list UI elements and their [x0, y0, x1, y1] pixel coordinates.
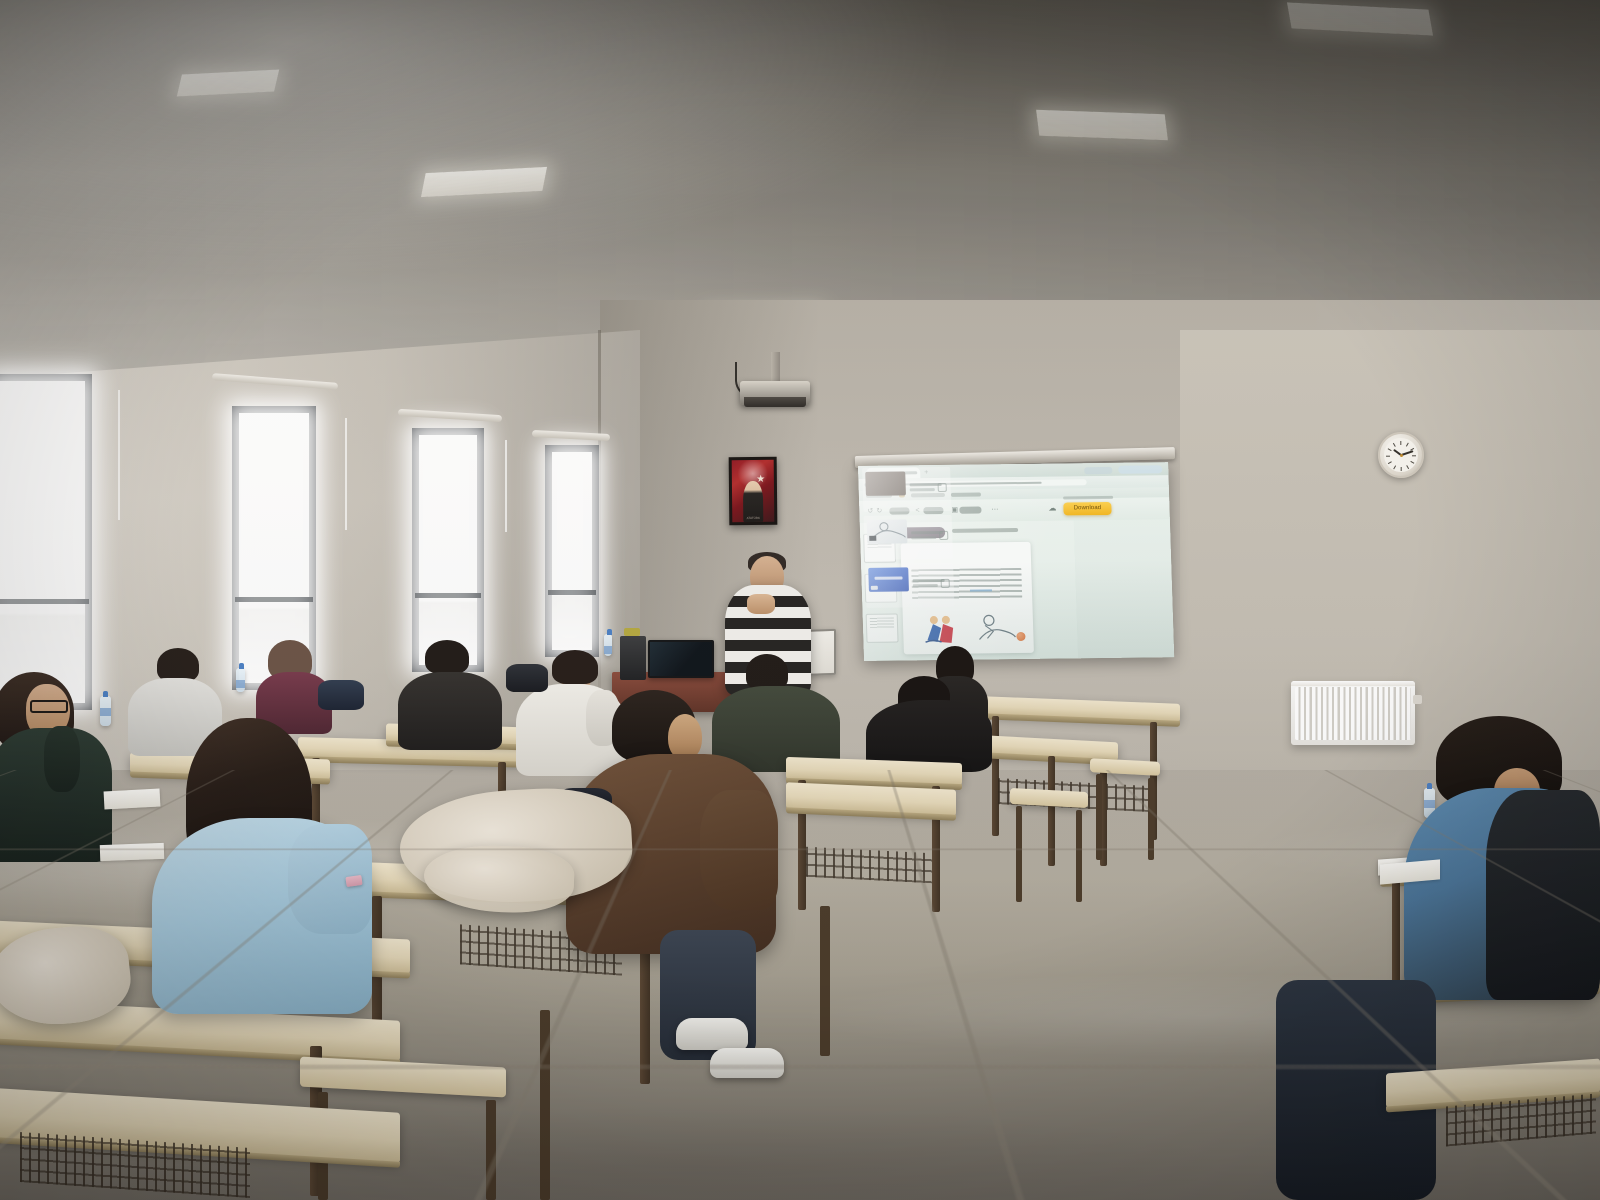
document-subtitle: [952, 528, 1018, 533]
portrait-caption: ATATÜRK: [732, 516, 774, 520]
student-hair: [552, 650, 598, 684]
result-download-icon[interactable]: [939, 531, 948, 540]
student-torso: [398, 672, 502, 750]
desk-leg: [992, 716, 999, 836]
thumbnail-lines: [870, 618, 894, 628]
shoe: [710, 1048, 784, 1078]
result-thumbnail: [865, 471, 906, 495]
student-hair: [157, 648, 199, 682]
student-hair: [746, 654, 788, 690]
backpack: [506, 664, 548, 692]
result-download-icon[interactable]: [938, 483, 947, 492]
toolbar-embed-button[interactable]: [959, 506, 981, 513]
projection-screen: + ↺ ↻ < ▣ ⋯ ☁ Download: [858, 462, 1174, 661]
glasses-icon: [30, 700, 68, 713]
shoe: [676, 1018, 748, 1050]
embed-icon[interactable]: ▣: [951, 507, 957, 514]
clock-tick: [1388, 448, 1392, 451]
document-highlight: [970, 589, 992, 591]
chair-frame: [1016, 806, 1022, 902]
browser-extension-chip[interactable]: [1084, 467, 1112, 474]
window-1-mullion: [0, 599, 89, 604]
results-panel: [1074, 519, 1174, 658]
result-thumbnail: [867, 519, 908, 543]
window-3-mullion: [415, 593, 481, 598]
bookmark-item[interactable]: [951, 492, 981, 496]
page-thumbnail[interactable]: [866, 613, 899, 642]
projector: [740, 381, 810, 405]
water-bottle: [236, 668, 245, 692]
water-bottle: [100, 696, 111, 726]
toolbar-more-icon[interactable]: ⋯: [991, 506, 999, 513]
student-hair: [425, 640, 469, 674]
wall-clock: [1378, 432, 1424, 478]
chair-frame: [1096, 774, 1102, 860]
chair-frame: [1148, 778, 1154, 860]
result-meta-secondary: [913, 584, 938, 587]
window-4-glass: [552, 452, 592, 650]
chair-frame: [820, 906, 830, 1056]
classroom-photo: ★ ATATÜRK + ↺: [0, 0, 1600, 1200]
clock-tick: [1400, 467, 1401, 471]
clock-tick: [1386, 455, 1390, 456]
window-3: [412, 428, 484, 672]
result-item[interactable]: [864, 515, 953, 560]
clock-center: [1400, 454, 1403, 457]
paper-sheet: [104, 789, 161, 810]
result-meta-secondary: [910, 488, 935, 491]
student-arm: [44, 726, 80, 792]
paper-sheet: [100, 843, 165, 861]
radiator-fins: [1295, 687, 1411, 740]
clock-tick: [1406, 443, 1409, 447]
clock-tick: [1393, 443, 1396, 447]
radiator: [1291, 681, 1415, 745]
result-thumbnail-badge: [871, 586, 878, 590]
document-illustration-sketch: [967, 613, 1020, 644]
browser-profile-chip[interactable]: [1118, 465, 1162, 474]
result-item[interactable]: [862, 467, 951, 512]
desk-leg: [1392, 876, 1400, 986]
portrait-image: ★ ATATÜRK: [732, 460, 775, 522]
radiator-valve[interactable]: [1413, 695, 1422, 704]
framed-portrait: ★ ATATÜRK: [729, 457, 778, 525]
document-illustration-people: [919, 610, 964, 645]
clock-tick: [1393, 465, 1396, 469]
backpack: [318, 680, 364, 710]
radiator-top: [1291, 681, 1415, 686]
projector-mount: [771, 352, 780, 384]
blind-cord: [345, 418, 347, 530]
result-item[interactable]: [865, 563, 954, 608]
result-download-icon[interactable]: [941, 579, 950, 588]
page-thumbnail-caption: [867, 646, 897, 651]
desk-leg: [1048, 756, 1055, 866]
chair-frame: [1076, 810, 1082, 902]
computer-tower: [620, 636, 646, 680]
student-arm: [700, 790, 778, 910]
student-vest: [1486, 790, 1600, 1000]
window-3-glass: [419, 435, 477, 665]
result-thumbnail: [868, 567, 909, 591]
presenter-hands: [747, 594, 775, 614]
blind-cord: [505, 440, 507, 532]
window-1: [0, 374, 92, 710]
clock-tick: [1412, 455, 1416, 456]
window-4-mullion: [548, 590, 596, 595]
download-button[interactable]: Download: [1063, 502, 1111, 516]
cloud-icon[interactable]: ☁: [1048, 505, 1057, 513]
computer-monitor: [648, 640, 714, 678]
window-1-glass: [0, 381, 85, 703]
blind-cord: [118, 390, 120, 520]
clock-tick: [1410, 461, 1414, 464]
clock-tick: [1406, 465, 1409, 469]
clock-tick: [1388, 461, 1392, 464]
clock-tick: [1400, 441, 1401, 445]
result-thumbnail-title: [874, 576, 902, 579]
chair-frame: [540, 1010, 550, 1200]
monitor-screen: [650, 642, 712, 676]
water-bottle: [604, 634, 612, 656]
accent-dot: [1016, 632, 1025, 641]
chair-frame: [486, 1100, 496, 1200]
clock-face: [1384, 438, 1418, 472]
desk-clutter: [624, 628, 640, 636]
window-4: [545, 445, 599, 657]
window-2-mullion: [235, 597, 313, 602]
toolbar-hint-text: [1063, 496, 1113, 500]
result-thumbnail-sketch: [867, 519, 908, 543]
result-meta-secondary: [911, 536, 936, 539]
